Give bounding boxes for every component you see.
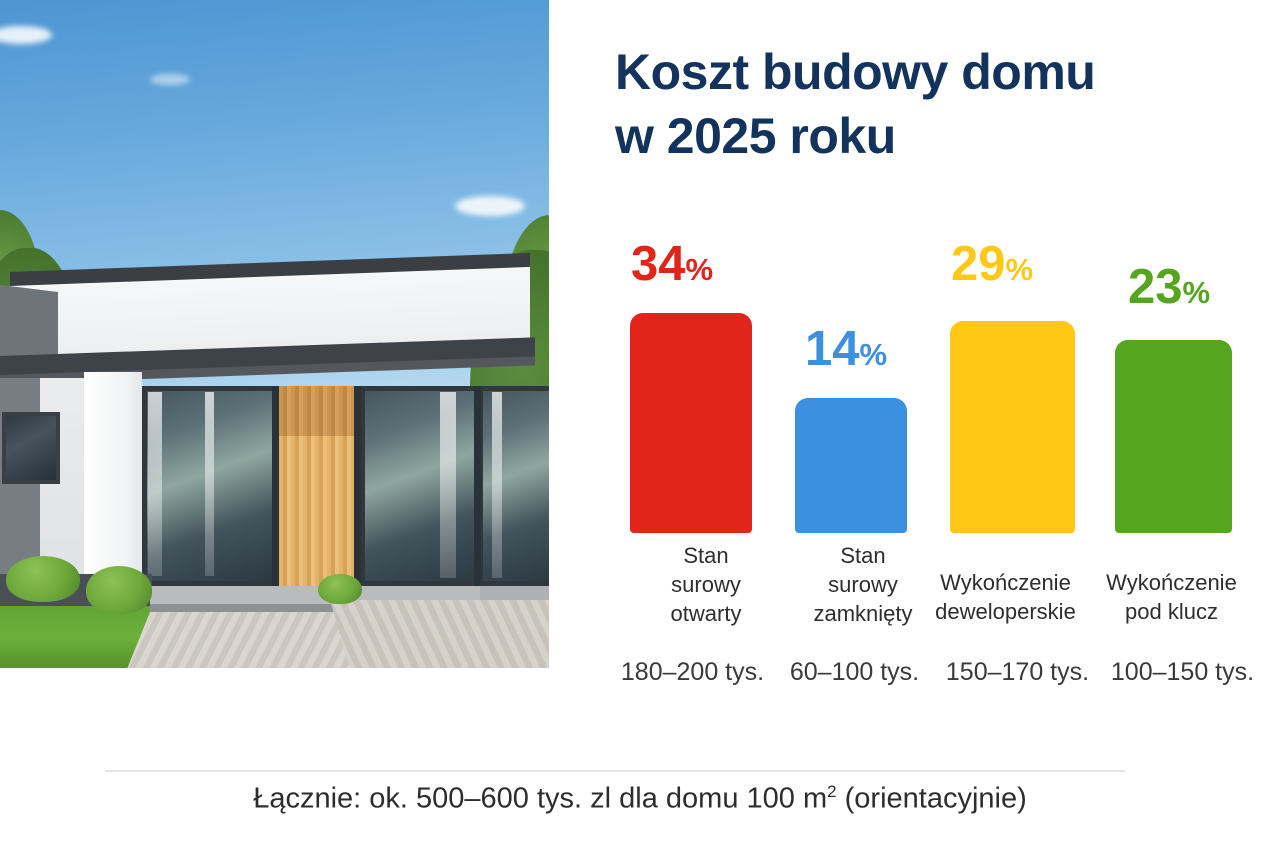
percentage-value: 34 bbox=[631, 237, 686, 291]
bar-4 bbox=[1115, 340, 1232, 533]
percent-sign: % bbox=[1006, 252, 1034, 287]
total-cost-summary: Łącznie: ok. 500–600 tys. zl dla domu 10… bbox=[0, 782, 1280, 816]
bar-3 bbox=[950, 321, 1075, 533]
bar-cost-2: 60–100 tys. bbox=[762, 660, 947, 685]
percentage-value: 23 bbox=[1128, 260, 1183, 314]
percentage-value: 29 bbox=[951, 237, 1006, 291]
footer-text-before: Łącznie: ok. 500–600 tys. zl dla domu 10… bbox=[253, 783, 827, 815]
bar-2 bbox=[795, 398, 907, 533]
percentage-value: 14 bbox=[805, 322, 860, 376]
bar-percentage-3: 29% bbox=[951, 240, 1033, 289]
bar-label-line: Stan bbox=[792, 541, 934, 570]
bar-label-2: Stansurowyzamknięty bbox=[792, 541, 934, 628]
percent-sign: % bbox=[1183, 275, 1211, 310]
bar-cost-4: 100–150 tys. bbox=[1090, 660, 1275, 685]
bar-cost-1: 180–200 tys. bbox=[600, 660, 785, 685]
bar-percentage-1: 34% bbox=[631, 240, 713, 289]
percent-sign: % bbox=[860, 337, 888, 372]
bar-label-line: Wykończenie bbox=[1098, 568, 1245, 597]
percent-sign: % bbox=[686, 252, 714, 287]
bar-percentage-2: 14% bbox=[805, 325, 887, 374]
bar-label-line: zamknięty bbox=[792, 599, 934, 628]
bar-label-line: surowy bbox=[630, 570, 782, 599]
bar-label-line: deweloperskie bbox=[928, 597, 1083, 626]
bar-cost-3: 150–170 tys. bbox=[925, 660, 1110, 685]
bar-chart: 34%Stansurowyotwarty180–200 tys.14%Stans… bbox=[0, 0, 727, 853]
footer-superscript: 2 bbox=[827, 782, 836, 801]
bar-label-line: Stan bbox=[630, 541, 782, 570]
bar-1 bbox=[630, 313, 752, 533]
bar-label-line: pod klucz bbox=[1098, 597, 1245, 626]
footer-text-after: (orientacyjnie) bbox=[837, 783, 1027, 815]
bar-label-line: surowy bbox=[792, 570, 934, 599]
bar-percentage-4: 23% bbox=[1128, 263, 1210, 312]
bar-label-1: Stansurowyotwarty bbox=[630, 541, 782, 628]
bar-label-line: Wykończenie bbox=[928, 568, 1083, 597]
footer-divider bbox=[105, 770, 1125, 772]
bar-label-3: Wykończeniedeweloperskie bbox=[928, 568, 1083, 626]
bar-label-4: Wykończeniepod klucz bbox=[1098, 568, 1245, 626]
bar-label-line: otwarty bbox=[630, 599, 782, 628]
